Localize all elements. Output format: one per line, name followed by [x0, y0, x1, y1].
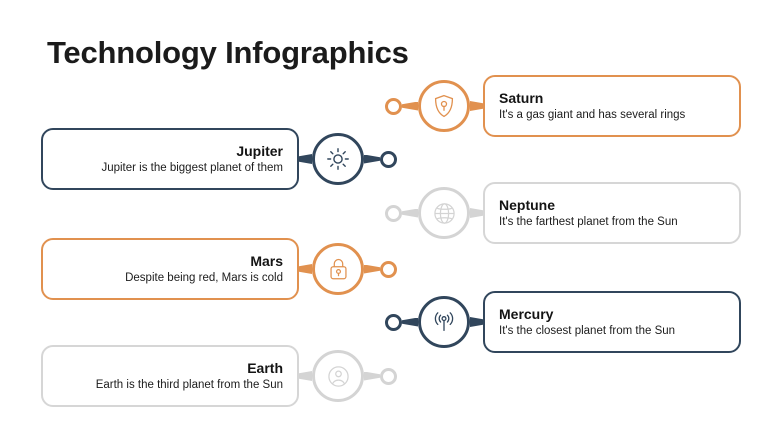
- connector-end-ring: [380, 368, 397, 385]
- connector-stem-outer: [402, 209, 418, 218]
- icon-circle-mars[interactable]: [312, 243, 364, 295]
- connector-neptune: [385, 187, 483, 239]
- infographic-item-saturn[interactable]: Saturn It's a gas giant and has several …: [385, 75, 741, 137]
- shield-keyhole-icon: [433, 94, 455, 118]
- icon-circle-neptune[interactable]: [418, 187, 470, 239]
- globe-icon: [433, 202, 456, 225]
- card-mars[interactable]: Mars Despite being red, Mars is cold: [41, 238, 299, 300]
- connector-stem-outer: [364, 265, 380, 274]
- connector-end-ring: [385, 98, 402, 115]
- card-description: Jupiter is the biggest planet of them: [101, 160, 283, 176]
- card-description: It's a gas giant and has several rings: [499, 107, 685, 123]
- card-description: Earth is the third planet from the Sun: [96, 377, 283, 393]
- connector-stem-inner: [470, 317, 483, 327]
- connector-stem-inner: [299, 154, 312, 164]
- card-mercury[interactable]: Mercury It's the closest planet from the…: [483, 291, 741, 353]
- connector-earth: [299, 350, 397, 402]
- connector-end-ring: [380, 261, 397, 278]
- card-neptune[interactable]: Neptune It's the farthest planet from th…: [483, 182, 741, 244]
- connector-end-ring: [385, 205, 402, 222]
- connector-stem-outer: [364, 372, 380, 381]
- connector-mercury: [385, 296, 483, 348]
- broadcast-antenna-icon: [432, 310, 456, 334]
- card-description: It's the closest planet from the Sun: [499, 323, 675, 339]
- connector-stem-outer: [364, 155, 380, 164]
- connector-jupiter: [299, 133, 397, 185]
- connector-stem-inner: [470, 208, 483, 218]
- connector-mars: [299, 243, 397, 295]
- card-title: Jupiter: [236, 142, 283, 161]
- card-description: It's the farthest planet from the Sun: [499, 214, 678, 230]
- icon-circle-jupiter[interactable]: [312, 133, 364, 185]
- card-earth[interactable]: Earth Earth is the third planet from the…: [41, 345, 299, 407]
- infographic-item-earth[interactable]: Earth Earth is the third planet from the…: [41, 345, 397, 407]
- infographic-item-mercury[interactable]: Mercury It's the closest planet from the…: [385, 291, 741, 353]
- connector-end-ring: [380, 151, 397, 168]
- gear-icon: [326, 147, 350, 171]
- infographic-item-neptune[interactable]: Neptune It's the farthest planet from th…: [385, 182, 741, 244]
- icon-circle-saturn[interactable]: [418, 80, 470, 132]
- connector-stem-inner: [470, 101, 483, 111]
- connector-stem-outer: [402, 102, 418, 111]
- icon-circle-earth[interactable]: [312, 350, 364, 402]
- card-description: Despite being red, Mars is cold: [125, 270, 283, 286]
- connector-stem-outer: [402, 318, 418, 327]
- connector-end-ring: [385, 314, 402, 331]
- page-title: Technology Infographics: [47, 36, 409, 70]
- card-title: Earth: [247, 359, 283, 378]
- infographic-item-jupiter[interactable]: Jupiter Jupiter is the biggest planet of…: [41, 128, 397, 190]
- user-avatar-icon: [327, 365, 350, 388]
- card-title: Mercury: [499, 305, 553, 324]
- infographic-slide: Technology Infographics Saturn It's a ga…: [0, 0, 783, 440]
- card-title: Neptune: [499, 196, 555, 215]
- card-saturn[interactable]: Saturn It's a gas giant and has several …: [483, 75, 741, 137]
- connector-saturn: [385, 80, 483, 132]
- infographic-item-mars[interactable]: Mars Despite being red, Mars is cold: [41, 238, 397, 300]
- card-jupiter[interactable]: Jupiter Jupiter is the biggest planet of…: [41, 128, 299, 190]
- connector-stem-inner: [299, 371, 312, 381]
- card-title: Saturn: [499, 89, 543, 108]
- card-title: Mars: [250, 252, 283, 271]
- connector-stem-inner: [299, 264, 312, 274]
- padlock-icon: [328, 257, 349, 281]
- icon-circle-mercury[interactable]: [418, 296, 470, 348]
